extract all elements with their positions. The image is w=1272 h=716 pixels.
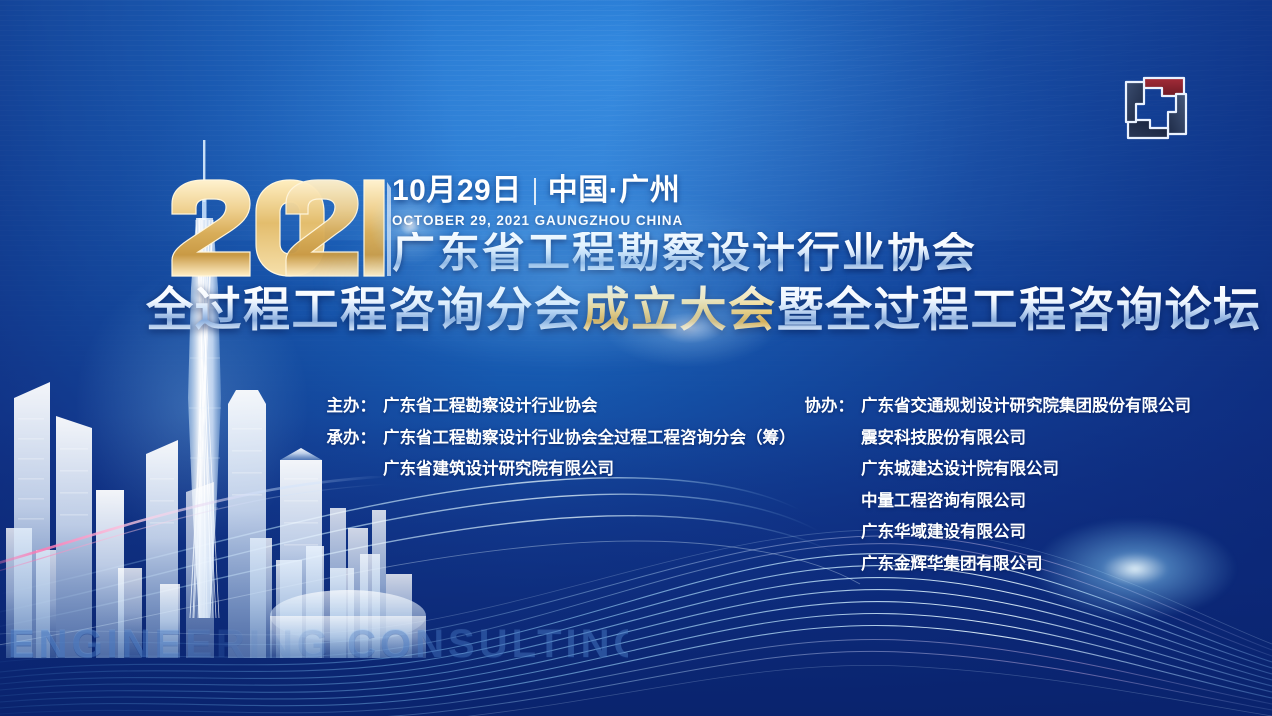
coorganizer-value-5: 广东华域建设有限公司 xyxy=(854,520,1026,546)
coorganizer-value-4: 中量工程咨询有限公司 xyxy=(854,489,1026,515)
watermark-text: ENGINEERING CONSULTING xyxy=(8,622,628,667)
coorganizer-row-4: 协办： 中量工程咨询有限公司 xyxy=(788,489,1191,515)
organizer-block-right: 协办： 广东省交通规划设计研究院集团股份有限公司 协办： 震安科技股份有限公司 … xyxy=(788,394,1191,577)
coorganizer-row-2: 协办： 震安科技股份有限公司 xyxy=(788,426,1191,452)
coorganizer-value-6: 广东金辉华集团有限公司 xyxy=(854,552,1043,578)
coorganizer-row-5: 协办： 广东华域建设有限公司 xyxy=(788,520,1191,546)
coorganizer-value-3: 广东城建达设计院有限公司 xyxy=(854,457,1059,483)
center-glow xyxy=(200,150,960,410)
coorganizer-value-2: 震安科技股份有限公司 xyxy=(854,426,1026,452)
coorganizer-row-3: 协办： 广东城建达设计院有限公司 xyxy=(788,457,1191,483)
undertaker-value-1: 广东省工程勘察设计行业协会全过程工程咨询分会（筹） xyxy=(376,426,796,452)
association-pinwheel-logo-icon xyxy=(1100,52,1212,164)
conference-banner: ENGINEERING CONSULTING xyxy=(0,0,1272,716)
undertaker-value-2: 广东省建筑设计研究院有限公司 xyxy=(376,457,614,483)
undertaker-row: 承办： 广东省工程勘察设计行业协会全过程工程咨询分会（筹） xyxy=(310,426,796,452)
undertaker-label: 承办： xyxy=(310,426,376,452)
undertaker-row-2: 承办： 广东省建筑设计研究院有限公司 xyxy=(310,457,796,483)
coorganizer-row-6: 协办： 广东金辉华集团有限公司 xyxy=(788,552,1191,578)
